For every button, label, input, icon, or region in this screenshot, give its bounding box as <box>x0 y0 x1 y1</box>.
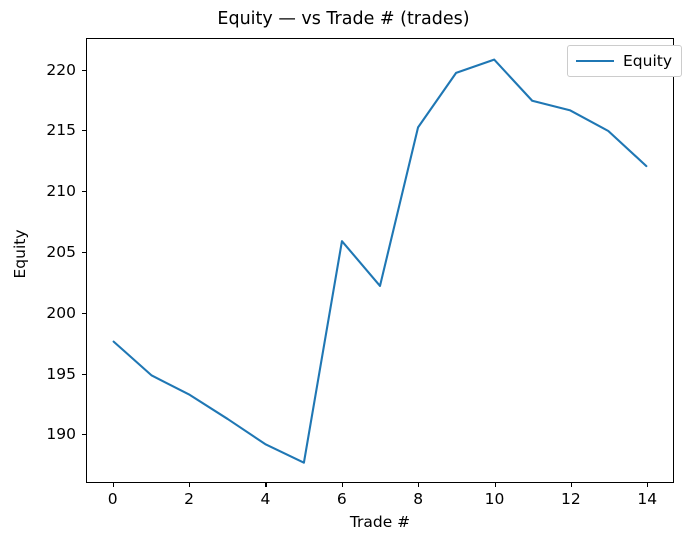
x-tick-mark <box>418 483 419 487</box>
y-tick-mark <box>82 130 86 131</box>
y-tick-label: 190 <box>12 425 76 443</box>
x-tick-label: 8 <box>388 490 448 508</box>
x-tick-label: 12 <box>541 490 601 508</box>
y-tick-label: 220 <box>12 61 76 79</box>
x-tick-label: 10 <box>465 490 525 508</box>
legend-label-equity: Equity <box>623 52 672 70</box>
x-tick-label: 4 <box>235 490 295 508</box>
x-tick-mark <box>342 483 343 487</box>
y-axis-ticks <box>0 0 687 546</box>
x-tick-mark <box>495 483 496 487</box>
y-tick-label: 195 <box>12 365 76 383</box>
x-tick-label: 6 <box>312 490 372 508</box>
x-tick-mark <box>113 483 114 487</box>
y-tick-mark <box>82 252 86 253</box>
x-tick-mark <box>265 483 266 487</box>
chart-figure: Equity — vs Trade # (trades) Equity Trad… <box>0 0 687 546</box>
y-tick-mark <box>82 191 86 192</box>
x-tick-label: 14 <box>617 490 677 508</box>
y-tick-label: 215 <box>12 121 76 139</box>
y-tick-label: 210 <box>12 182 76 200</box>
y-tick-mark <box>82 434 86 435</box>
y-tick-mark <box>82 374 86 375</box>
x-tick-mark <box>571 483 572 487</box>
legend-color-swatch-equity <box>576 60 614 62</box>
y-tick-mark <box>82 70 86 71</box>
x-tick-mark <box>189 483 190 487</box>
y-tick-mark <box>82 313 86 314</box>
chart-legend: Equity <box>567 45 682 77</box>
x-tick-label: 2 <box>159 490 219 508</box>
y-tick-label: 200 <box>12 304 76 322</box>
x-tick-mark <box>647 483 648 487</box>
x-axis-label: Trade # <box>86 513 674 531</box>
x-tick-label: 0 <box>83 490 143 508</box>
y-tick-label: 205 <box>12 243 76 261</box>
